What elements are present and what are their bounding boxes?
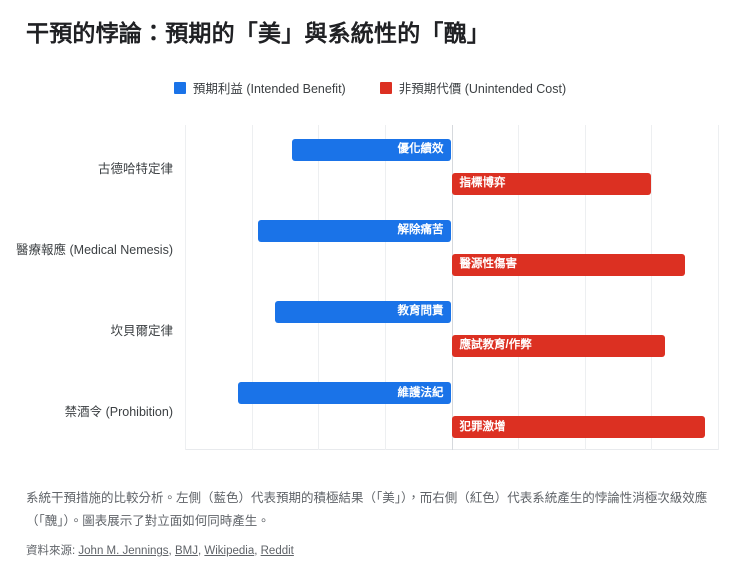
source-link[interactable]: John M. Jennings [78,545,168,557]
chart-row: 醫療報應 (Medical Nemesis)解除痛苦醫源性傷害 [185,206,718,287]
category-label: 醫療報應 (Medical Nemesis) [16,239,173,258]
bar-cost[interactable]: 醫源性傷害 [452,254,685,276]
bar-cost[interactable]: 犯罪激增 [452,416,705,438]
bar-label-cost: 醫源性傷害 [460,259,518,271]
legend-item-benefit[interactable]: 預期利益 (Intended Benefit) [174,78,346,97]
bar-label-benefit: 教育問責 [397,306,443,318]
bar-label-cost: 犯罪激增 [460,422,506,434]
sources-prefix: 資料來源: [26,545,75,557]
chart-caption: 系統干預措施的比較分析。左側（藍色）代表預期的積極結果（「美」），而右側（紅色）… [26,487,718,533]
bar-benefit[interactable]: 教育問責 [275,301,452,323]
gridline [718,125,719,450]
source-separator: , [254,545,257,557]
bar-cost[interactable]: 應試教育/作弊 [452,335,665,357]
source-separator: , [198,545,201,557]
chart-legend: 預期利益 (Intended Benefit) 非預期代價 (Unintende… [0,78,740,97]
legend-item-cost[interactable]: 非預期代價 (Unintended Cost) [380,78,566,97]
category-label: 古德哈特定律 [98,158,173,177]
chart-row: 古德哈特定律優化績效指標博弈 [185,125,718,206]
chart-plot-area: 古德哈特定律優化績效指標博弈醫療報應 (Medical Nemesis)解除痛苦… [185,125,718,450]
bar-label-cost: 指標博弈 [460,178,506,190]
source-link[interactable]: Wikipedia [204,545,254,557]
source-link[interactable]: Reddit [261,545,294,557]
bar-label-benefit: 維護法紀 [397,388,443,400]
sources-line: 資料來源: John M. Jennings, BMJ, Wikipedia, … [26,542,294,558]
bar-label-cost: 應試教育/作弊 [460,340,532,352]
legend-label-cost: 非預期代價 (Unintended Cost) [399,78,566,97]
page-title: 干預的悖論：預期的「美」與系統性的「醜」 [26,14,490,48]
legend-swatch-cost-icon [380,82,392,94]
source-link[interactable]: BMJ [175,545,198,557]
category-label: 禁酒令 (Prohibition) [65,401,173,420]
sources-links: John M. Jennings, BMJ, Wikipedia, Reddit [78,545,293,557]
bar-benefit[interactable]: 維護法紀 [238,382,451,404]
legend-swatch-benefit-icon [174,82,186,94]
bar-cost[interactable]: 指標博弈 [452,173,652,195]
bar-label-benefit: 優化績效 [397,144,443,156]
bar-benefit[interactable]: 解除痛苦 [258,220,451,242]
chart-row: 禁酒令 (Prohibition)維護法紀犯罪激增 [185,369,718,450]
bar-benefit[interactable]: 優化績效 [292,139,452,161]
legend-label-benefit: 預期利益 (Intended Benefit) [193,78,346,97]
category-label: 坎貝爾定律 [110,320,173,339]
source-separator: , [169,545,172,557]
bar-label-benefit: 解除痛苦 [397,225,443,237]
chart-row: 坎貝爾定律教育問責應試教育/作弊 [185,288,718,369]
